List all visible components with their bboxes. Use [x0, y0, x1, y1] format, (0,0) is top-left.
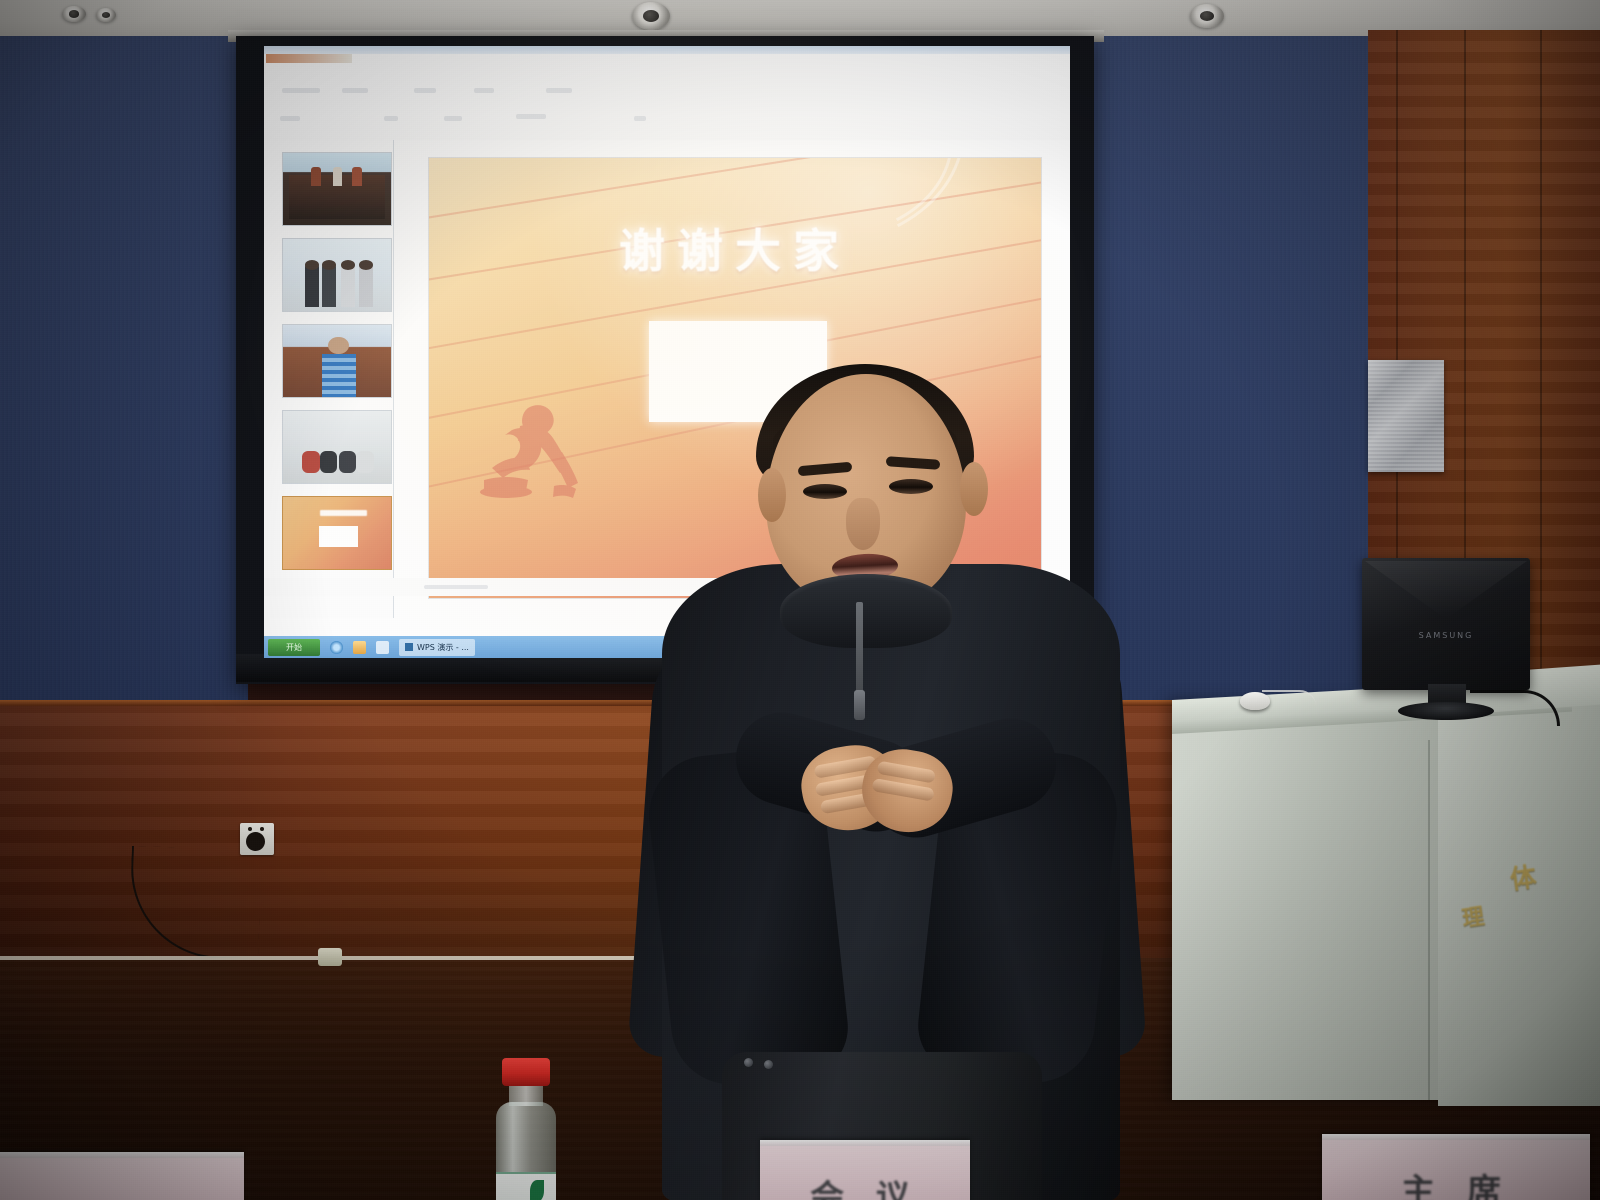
lectern-body	[1172, 700, 1482, 1100]
nameplate-right: 主 席	[1322, 1134, 1590, 1200]
app-ribbon[interactable]	[264, 54, 1070, 140]
slide-thumbnail[interactable]: 1	[282, 152, 392, 226]
slide-thumbnail-active[interactable]: 5	[282, 496, 392, 570]
ribbon-active-tab[interactable]	[266, 54, 352, 63]
thumbnail-image	[283, 497, 391, 569]
taskbar-window-button[interactable]: WPS 演示 - ...	[399, 639, 475, 656]
window-icon	[405, 643, 413, 651]
thumbnail-image	[283, 153, 391, 225]
monitor-brand-label: SAMSUNG	[1362, 631, 1530, 640]
slide-thumbnail[interactable]: 2	[282, 238, 392, 312]
nameplate-right-text: 主 席	[1322, 1164, 1590, 1200]
start-button[interactable]: 开始	[268, 639, 320, 656]
bottle-cap[interactable]	[502, 1058, 550, 1086]
nameplate-left	[0, 1152, 244, 1200]
slide-thumbnail-panel[interactable]: 1 2	[270, 140, 394, 618]
water-bottle[interactable]	[494, 1058, 560, 1200]
taskbar-window-label: WPS 演示 - ...	[417, 639, 469, 656]
zipper-pull	[854, 690, 865, 720]
bottle-neck	[509, 1084, 543, 1106]
ceiling-spotlight-1	[62, 6, 86, 22]
slide-thumbnail[interactable]: 4	[282, 410, 392, 484]
sprinter-silhouette-icon	[466, 394, 616, 519]
lecture-hall-photo: 1 2	[0, 0, 1600, 1200]
ceiling-spotlight-3	[632, 2, 670, 30]
notice-sheet	[1368, 360, 1444, 472]
nameplate-center: 会 议	[760, 1140, 970, 1200]
app-titlebar[interactable]	[264, 46, 1070, 54]
ceiling-spotlight-2	[96, 8, 116, 22]
ceiling-spotlight-4	[1190, 4, 1224, 28]
computer-monitor: SAMSUNG	[1362, 558, 1530, 690]
slide-thumbnail[interactable]: 3	[282, 324, 392, 398]
thumbnail-image	[283, 411, 391, 483]
thumbnail-image	[283, 325, 391, 397]
lectern-side-cabinet	[1438, 686, 1600, 1106]
power-plug	[246, 832, 265, 851]
lectern-gold-character-1: 理	[1460, 899, 1486, 934]
browser-icon[interactable]	[330, 641, 343, 654]
floor-stopper	[318, 948, 342, 966]
mouse-cord	[1262, 690, 1316, 706]
bottle-leaf-logo-icon	[530, 1180, 544, 1200]
sweater-collar	[780, 574, 952, 648]
wall-panel-blue-left	[0, 36, 248, 716]
ear-right	[960, 462, 988, 516]
computer-mouse[interactable]	[1240, 692, 1270, 710]
bottle-label	[496, 1172, 556, 1200]
nose	[846, 498, 880, 550]
lectern-gold-character-2: 体	[1508, 856, 1539, 896]
slide-title: 谢谢大家	[429, 215, 1041, 281]
nameplate-center-text: 会 议	[760, 1170, 970, 1200]
speaker-figure	[630, 352, 1130, 1200]
ear-left	[758, 468, 786, 522]
folder-icon[interactable]	[353, 641, 366, 654]
thumbnail-image	[283, 239, 391, 311]
monitor-stand-base	[1398, 702, 1494, 720]
lectern-door-seam	[1428, 740, 1430, 1100]
app-icon[interactable]	[376, 641, 389, 654]
eye-right	[889, 479, 933, 494]
eye-left	[803, 484, 847, 499]
